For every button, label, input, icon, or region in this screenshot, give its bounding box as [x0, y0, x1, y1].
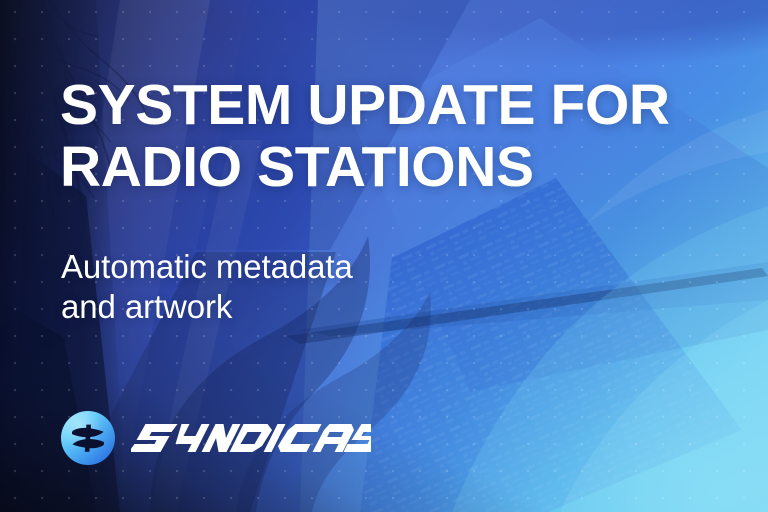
subheadline: Automatic metadata and artwork: [61, 247, 581, 327]
syndicast-mark-icon: [60, 410, 116, 466]
syndicast-wordmark: [131, 410, 371, 466]
subheadline-line-1: Automatic metadata: [61, 247, 581, 287]
syndicast-logo: [60, 406, 371, 470]
promo-banner: SYSTEM UPDATE FOR RADIO STATIONS Automat…: [0, 0, 768, 512]
subheadline-line-2: and artwork: [61, 287, 581, 327]
headline-line-1: SYSTEM UPDATE FOR: [60, 74, 720, 136]
headline: SYSTEM UPDATE FOR RADIO STATIONS: [60, 74, 720, 198]
headline-line-2: RADIO STATIONS: [60, 136, 720, 198]
